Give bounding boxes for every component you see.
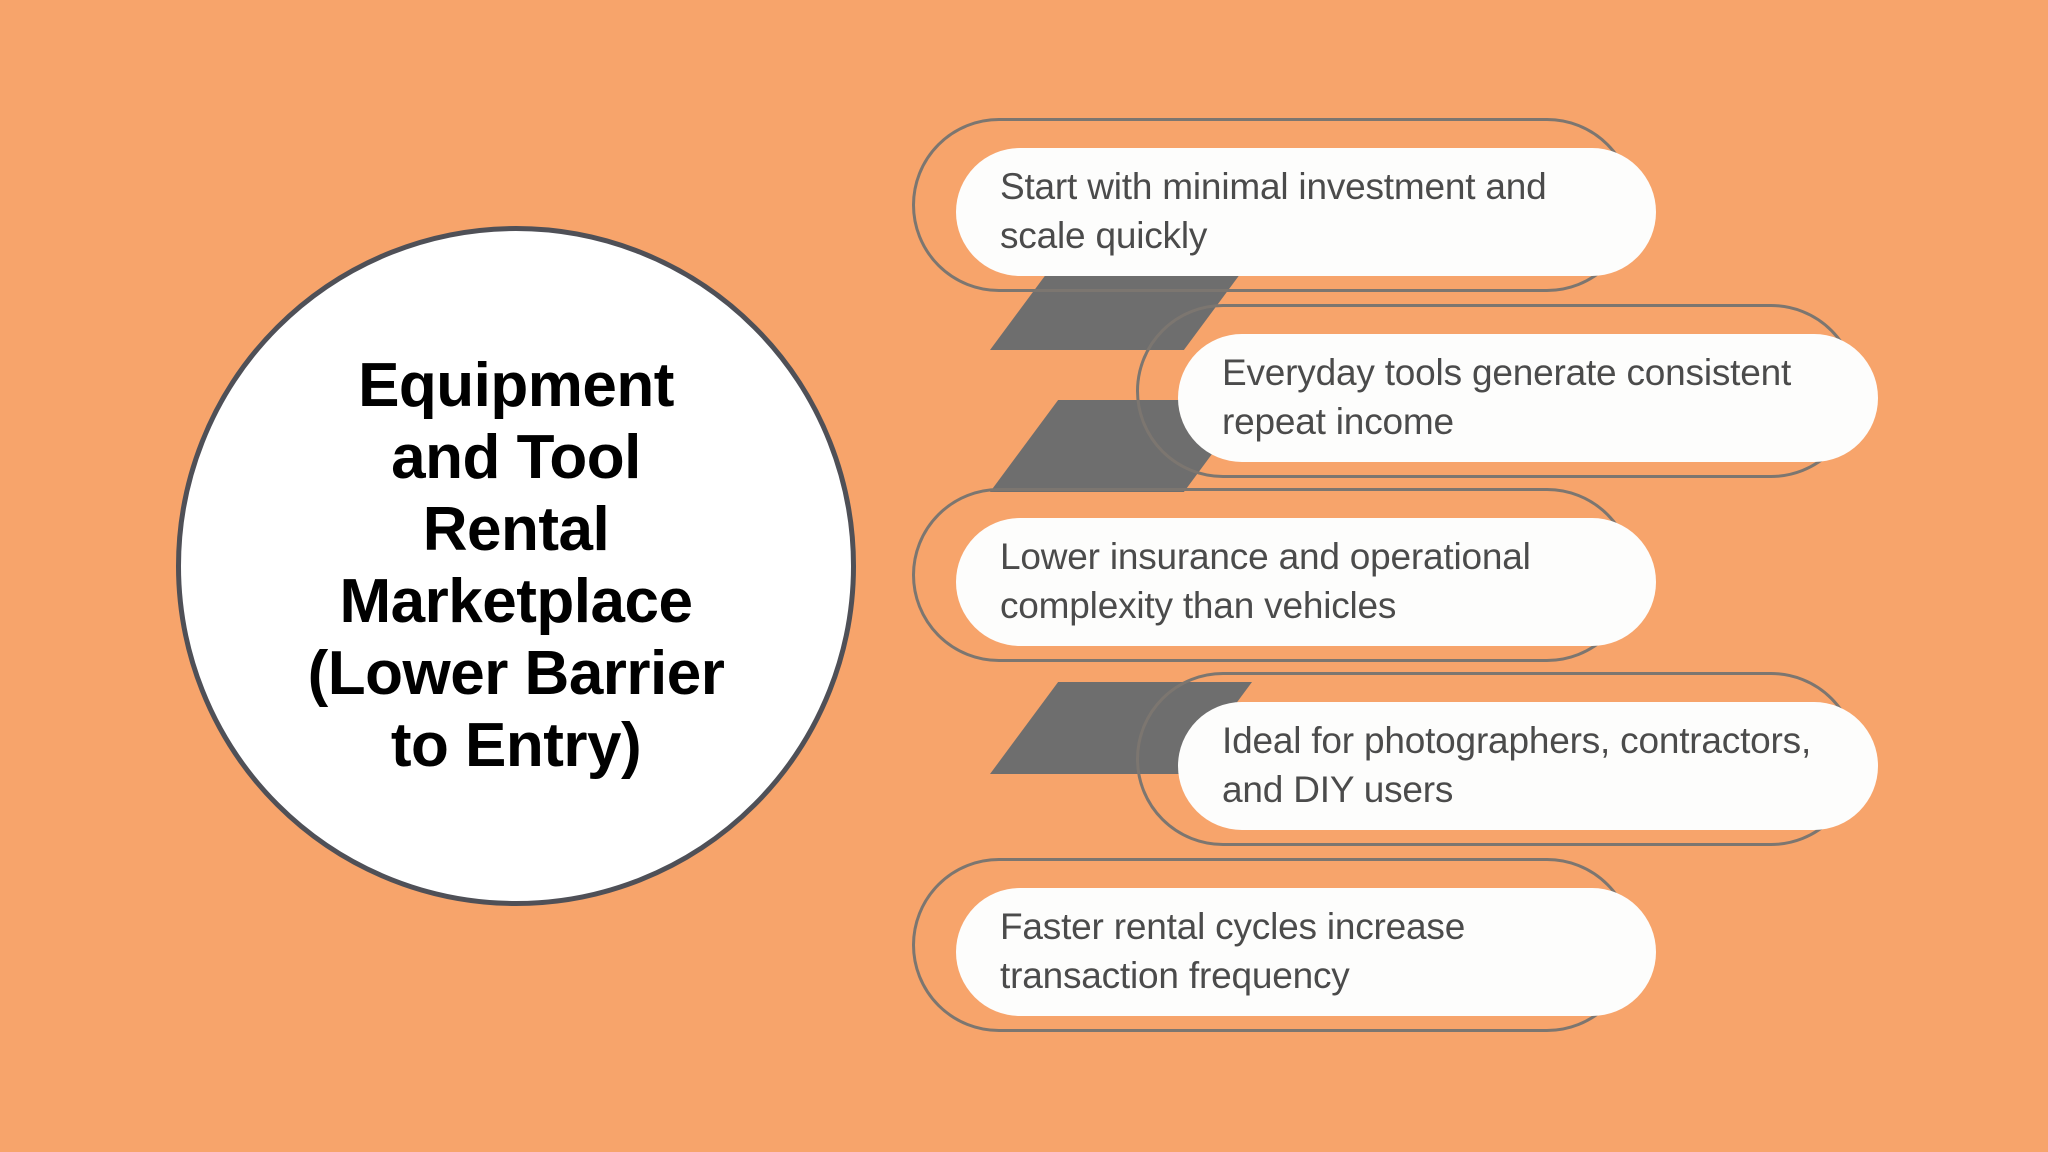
chain-item-5-label: Faster rental cycles increase transactio…	[1000, 903, 1465, 1001]
chain-item-4[interactable]: Ideal for photographers, contractors, an…	[1178, 702, 1878, 830]
chain-item-3[interactable]: Lower insurance and operational complexi…	[956, 518, 1656, 646]
chain-list: Start with minimal investment and scale …	[930, 0, 2048, 1152]
chain-item-2[interactable]: Everyday tools generate consistent repea…	[1178, 334, 1878, 462]
page-title: Equipment and Tool Rental Marketplace (L…	[221, 350, 811, 781]
chain-item-4-label: Ideal for photographers, contractors, an…	[1222, 717, 1811, 815]
title-circle-wrapper: Equipment and Tool Rental Marketplace (L…	[176, 226, 856, 906]
chain-item-1[interactable]: Start with minimal investment and scale …	[956, 148, 1656, 276]
chain-item-1-label: Start with minimal investment and scale …	[1000, 163, 1547, 261]
chain-item-3-label: Lower insurance and operational complexi…	[1000, 533, 1531, 631]
infographic-canvas: Equipment and Tool Rental Marketplace (L…	[0, 0, 2048, 1152]
chain-item-5[interactable]: Faster rental cycles increase transactio…	[956, 888, 1656, 1016]
title-circle: Equipment and Tool Rental Marketplace (L…	[176, 226, 856, 906]
chain-item-2-label: Everyday tools generate consistent repea…	[1222, 349, 1791, 447]
